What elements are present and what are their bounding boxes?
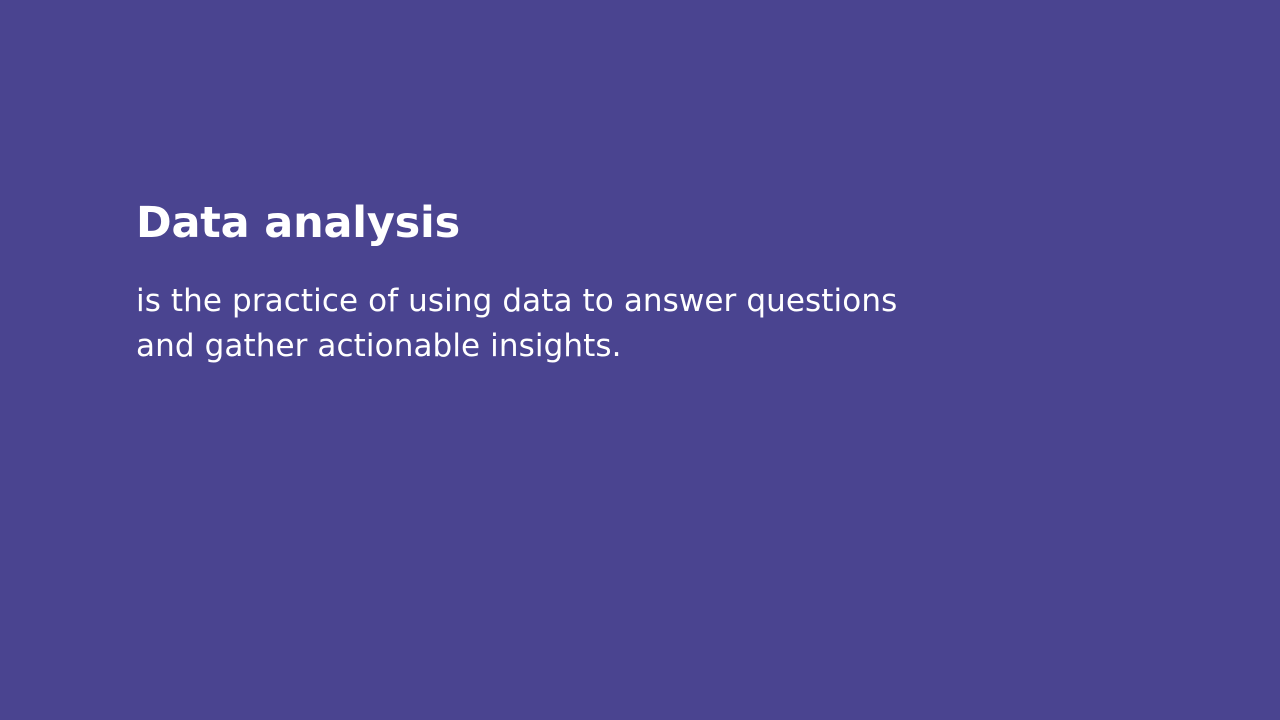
definition-text: is the practice of using data to answer … <box>136 250 926 369</box>
definition-line-2: and gather actionable insights. <box>136 324 926 369</box>
slide-canvas: Data analysis is the practice of using d… <box>0 0 1280 720</box>
definition-block: Data analysis is the practice of using d… <box>136 196 1036 369</box>
definition-line-1: is the practice of using data to answer … <box>136 279 926 324</box>
term-heading: Data analysis <box>136 196 1036 250</box>
